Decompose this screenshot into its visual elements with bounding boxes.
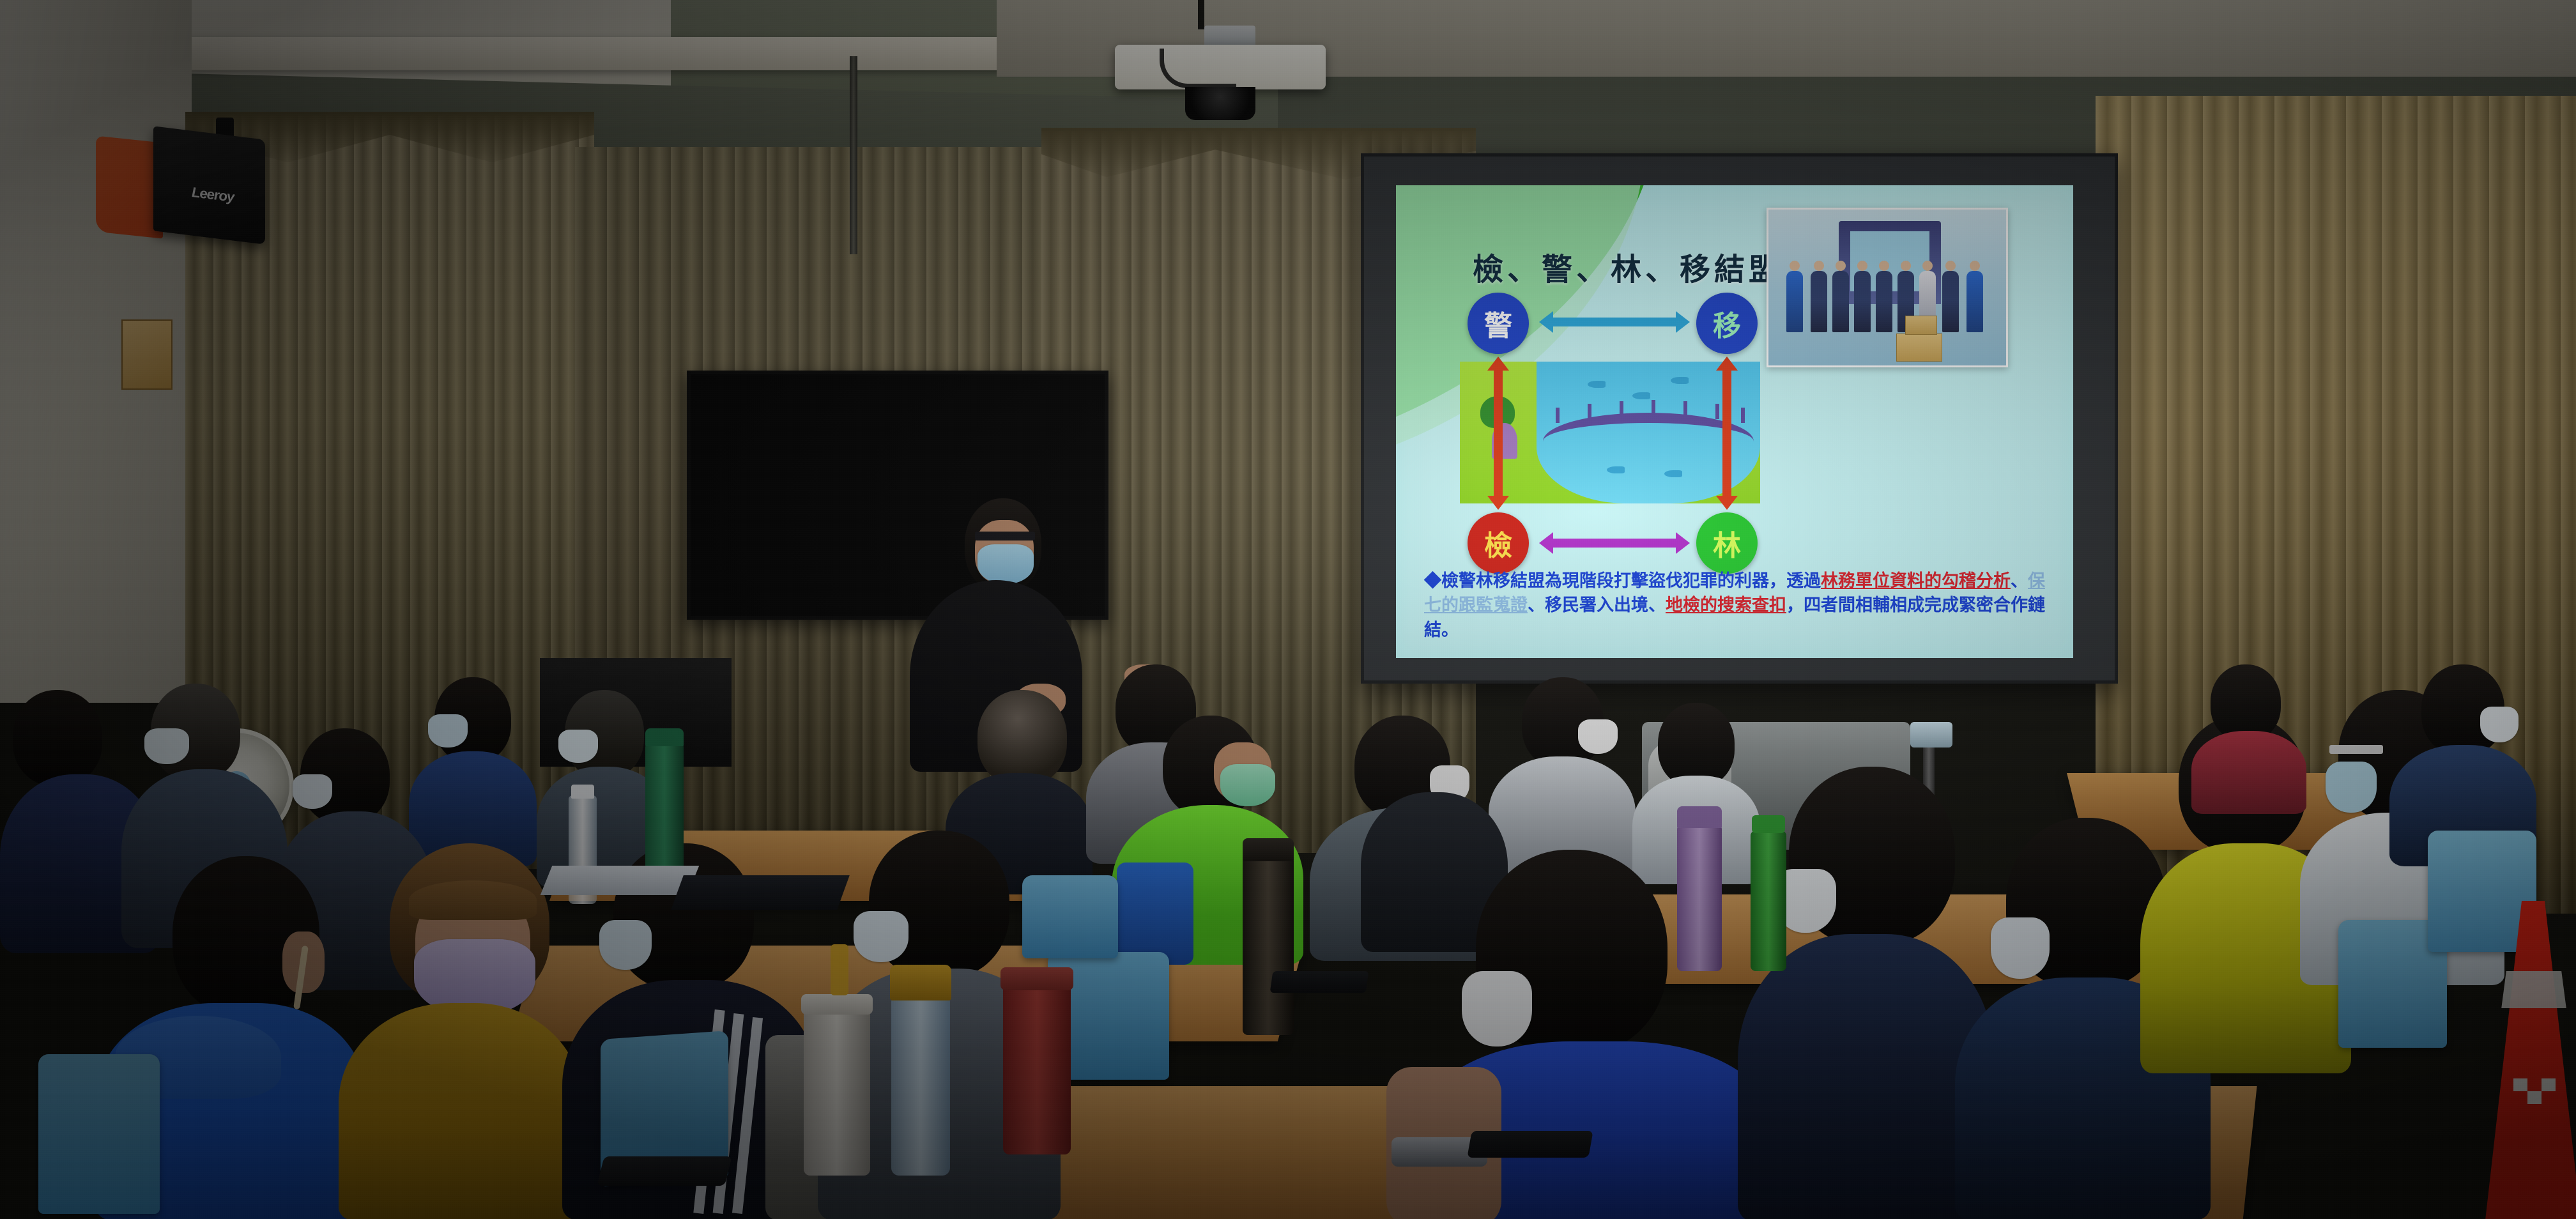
attendee-head bbox=[1658, 703, 1735, 787]
arrow-tip-right bbox=[1676, 532, 1690, 554]
wall-speaker: Leeroy bbox=[96, 128, 262, 243]
attendee-torso bbox=[2191, 731, 2306, 814]
bottle-purple[interactable] bbox=[1677, 824, 1722, 971]
traffic-cone bbox=[2485, 875, 2576, 1219]
slide-node-lin: 林 bbox=[1696, 512, 1758, 574]
photo-person bbox=[1832, 271, 1849, 332]
bullet-line3-highlight: 地檢的搜索查扣 bbox=[1666, 595, 1786, 615]
tumbler-white[interactable] bbox=[804, 1009, 870, 1176]
presenter-mask bbox=[977, 544, 1034, 584]
photo-person-head bbox=[1901, 261, 1911, 271]
arrow-tip-bottom bbox=[1716, 496, 1738, 510]
attendee-head bbox=[977, 690, 1067, 786]
speaker-black-cabinet bbox=[153, 126, 265, 244]
bridge-rail bbox=[1683, 401, 1687, 417]
attendee-mask bbox=[2326, 762, 2377, 813]
arrow-tip-top bbox=[1487, 356, 1509, 371]
projector-cable bbox=[1160, 49, 1236, 88]
projector-lens bbox=[1185, 87, 1255, 120]
projector-pole bbox=[850, 56, 857, 254]
thermos-black[interactable] bbox=[1243, 856, 1294, 1035]
slide-inset-photo bbox=[1767, 208, 2008, 367]
illustration-fish bbox=[1632, 392, 1650, 399]
photo-person-head bbox=[1945, 261, 1956, 271]
tumbler-red[interactable] bbox=[1003, 985, 1071, 1154]
bottle-green-flask[interactable] bbox=[645, 741, 684, 875]
projection-screen: 檢、警、林、移結盟 bbox=[1361, 153, 2118, 684]
photo-evidence-box bbox=[1905, 316, 1937, 335]
arrow-tip-right bbox=[1676, 311, 1690, 333]
attendee-torso bbox=[339, 1003, 581, 1219]
slide-node-jing: 警 bbox=[1468, 293, 1529, 354]
arrow-bar bbox=[1553, 318, 1676, 326]
bottle-cap bbox=[890, 965, 951, 1000]
photo-person-head bbox=[1857, 261, 1867, 271]
arrow-tip-left bbox=[1539, 311, 1553, 333]
tumbler-handle bbox=[831, 944, 848, 995]
photo-person bbox=[1942, 271, 1959, 332]
bottle-cap bbox=[1677, 806, 1722, 828]
attendee-glasses bbox=[2329, 745, 2383, 754]
attendee-yellow-shirt bbox=[339, 843, 581, 1219]
attendee-light-shirt bbox=[1489, 677, 1636, 869]
attendee-bangs bbox=[409, 880, 537, 920]
bridge-rail bbox=[1715, 404, 1719, 419]
cone-checker bbox=[2513, 1078, 2527, 1091]
arrow-tip-bottom bbox=[1487, 496, 1509, 510]
arrow-jing-to-jian bbox=[1493, 356, 1503, 510]
slide-node-jian: 檢 bbox=[1468, 512, 1529, 574]
bottle-cap bbox=[1243, 838, 1294, 861]
bridge-rail bbox=[1652, 400, 1655, 415]
bullet-marker: ◆ bbox=[1424, 571, 1441, 590]
photo-evidence-box bbox=[1896, 333, 1942, 362]
photo-person bbox=[1811, 271, 1827, 332]
bridge-rail bbox=[1741, 408, 1745, 423]
cone-body bbox=[2485, 901, 2576, 1219]
bullet-line2-highlight: 單位資料的勾稽分析 bbox=[1855, 571, 2011, 590]
photo-person-head bbox=[1879, 261, 1889, 271]
illustration-fish bbox=[1588, 381, 1606, 388]
chair[interactable] bbox=[1022, 875, 1118, 958]
slide-content: 檢、警、林、移結盟 bbox=[1396, 185, 2073, 658]
arrow-bar bbox=[1553, 539, 1676, 548]
bottle-green-tea[interactable] bbox=[1751, 831, 1786, 971]
photo-person-head bbox=[1836, 261, 1846, 271]
bullet-line2-b: 、移民署入出境、 bbox=[1528, 595, 1666, 615]
attendee-mask bbox=[1578, 719, 1618, 754]
cone-checker bbox=[2527, 1091, 2541, 1104]
attendee-head bbox=[2211, 664, 2281, 741]
attendee-mask bbox=[144, 728, 189, 764]
attendee-head bbox=[13, 690, 102, 786]
gooseneck-microphone bbox=[1910, 722, 1952, 747]
photo-person bbox=[1854, 271, 1871, 332]
smartphone[interactable] bbox=[1467, 1131, 1593, 1158]
attendee-mask bbox=[1220, 764, 1275, 806]
attendee-mask bbox=[293, 774, 332, 809]
illustration-fish bbox=[1664, 470, 1682, 477]
arrow-tip-left bbox=[1539, 532, 1553, 554]
bridge-rail bbox=[1620, 401, 1623, 417]
illustration-fish bbox=[1671, 377, 1689, 384]
photo-person bbox=[1786, 271, 1803, 332]
tumbler-lid bbox=[1000, 967, 1073, 990]
attendee-mask bbox=[2480, 707, 2518, 742]
slide-node-yi: 移 bbox=[1696, 293, 1758, 354]
photo-person-head bbox=[1790, 261, 1800, 271]
bridge-rail bbox=[1588, 404, 1591, 419]
smartphone[interactable] bbox=[1270, 971, 1369, 993]
photo-person-head bbox=[1814, 261, 1824, 271]
wall-mounted-box bbox=[121, 319, 172, 390]
arrow-jian-to-lin bbox=[1539, 538, 1690, 548]
attendee-far-right bbox=[2389, 664, 2536, 856]
presenter-glasses bbox=[975, 532, 1035, 540]
bullet-line2-sep: 、 bbox=[2011, 571, 2028, 590]
attendee-mask bbox=[854, 911, 908, 962]
bottle-cap bbox=[571, 785, 594, 799]
photo-person bbox=[1966, 271, 1983, 332]
cone-reflective-stripe bbox=[2499, 971, 2568, 1008]
photo-person-head bbox=[1922, 261, 1933, 271]
smartphone[interactable] bbox=[597, 1156, 732, 1186]
attendee-red-back bbox=[2191, 664, 2306, 811]
bullet-line1-highlight: 林務 bbox=[1821, 571, 1855, 590]
bottle-cap bbox=[1752, 815, 1785, 833]
bullet-line1-a: 檢警林移結盟為現階段打擊盜伐犯罪的利器，透過 bbox=[1441, 571, 1821, 590]
bottle-cap bbox=[645, 728, 684, 746]
arrow-bar bbox=[1494, 371, 1503, 496]
arrow-tip-top bbox=[1716, 356, 1738, 371]
arrow-bar bbox=[1722, 371, 1731, 496]
photo-scene: Leeroy 檢、警、林、移結盟 bbox=[0, 0, 2576, 1219]
photo-person-head bbox=[1970, 261, 1980, 271]
attendee-mask bbox=[1462, 971, 1532, 1046]
notebook[interactable] bbox=[671, 875, 850, 910]
attendee-mask bbox=[1991, 917, 2050, 979]
slide-bullet-text: ◆檢警林移結盟為現階段打擊盜伐犯罪的利器，透過林務單位資料的勾稽分析、保七的跟監… bbox=[1424, 569, 2050, 642]
chair[interactable] bbox=[38, 1054, 160, 1214]
arrow-jing-to-yi bbox=[1539, 317, 1690, 327]
ceiling-projector bbox=[1115, 26, 1326, 96]
bottle-clear-blue[interactable] bbox=[891, 997, 950, 1176]
bridge-rail bbox=[1556, 408, 1560, 423]
paper-document[interactable] bbox=[540, 866, 700, 895]
attendee-mask bbox=[558, 730, 598, 763]
attendee-mask bbox=[599, 920, 652, 970]
arrow-yi-to-lin bbox=[1722, 356, 1732, 510]
cone-checker bbox=[2541, 1078, 2556, 1091]
photo-person bbox=[1876, 271, 1892, 332]
attendee-apron bbox=[1117, 862, 1193, 965]
tumbler-lid bbox=[801, 994, 873, 1015]
